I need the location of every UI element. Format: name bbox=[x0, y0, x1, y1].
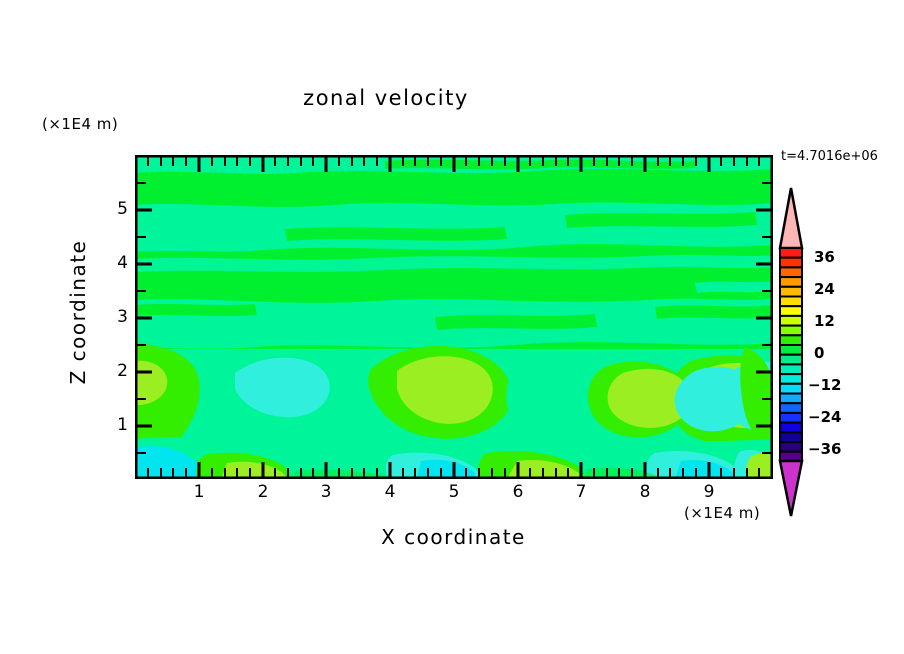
x-tick-label: 3 bbox=[314, 482, 338, 502]
colorbar bbox=[778, 186, 808, 518]
y-axis-unit-label: (×1E4 m) bbox=[42, 115, 118, 133]
y-tick-label: 4 bbox=[104, 253, 128, 273]
x-tick-label: 1 bbox=[187, 482, 211, 502]
colorbar-tick-label: 0 bbox=[814, 344, 824, 362]
colorbar-tick-label: 36 bbox=[814, 248, 835, 266]
x-tick-label: 9 bbox=[697, 482, 721, 502]
colorbar-tick-label: −12 bbox=[808, 376, 841, 394]
colorbar-tick-label: −24 bbox=[808, 408, 841, 426]
figure-canvas: zonal velocity (×1E4 m) (×1E4 m) X coord… bbox=[0, 0, 904, 654]
y-tick-label: 5 bbox=[104, 199, 128, 219]
y-tick-label: 2 bbox=[104, 361, 128, 381]
time-annotation: t=4.7016e+06 bbox=[781, 149, 878, 164]
y-tick-label: 1 bbox=[104, 415, 128, 435]
x-tick-label: 2 bbox=[251, 482, 275, 502]
x-tick-label: 4 bbox=[378, 482, 402, 502]
colorbar-tick-label: −36 bbox=[808, 440, 841, 458]
y-tick-label: 3 bbox=[104, 307, 128, 327]
colorbar-tick-label: 12 bbox=[814, 312, 835, 330]
x-axis-unit-label: (×1E4 m) bbox=[684, 504, 760, 522]
x-axis-title: X coordinate bbox=[135, 525, 772, 549]
contour-plot bbox=[135, 155, 773, 479]
x-tick-label: 8 bbox=[633, 482, 657, 502]
x-tick-label: 6 bbox=[506, 482, 530, 502]
x-tick-label: 7 bbox=[569, 482, 593, 502]
page-title: zonal velocity bbox=[0, 86, 772, 110]
x-tick-label: 5 bbox=[442, 482, 466, 502]
colorbar-tick-label: 24 bbox=[814, 280, 835, 298]
y-axis-title: Z coordinate bbox=[66, 212, 90, 412]
